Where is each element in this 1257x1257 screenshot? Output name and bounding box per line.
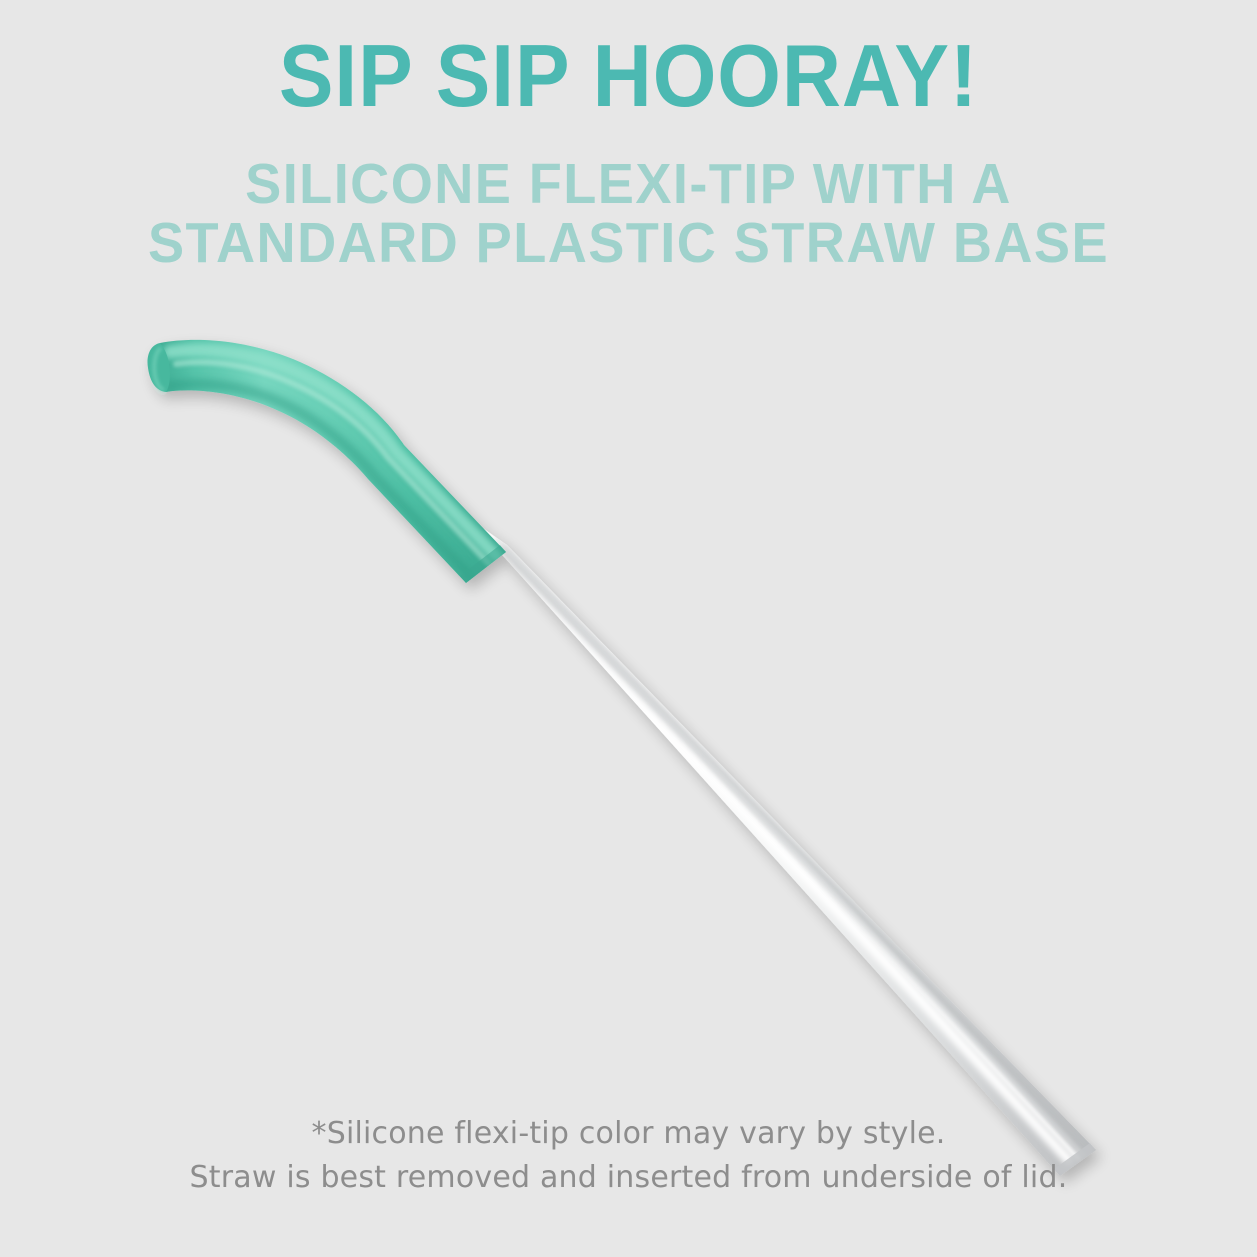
page-subtitle-line-2: STANDARD PLASTIC STRAW BASE [31, 214, 1225, 273]
straw-body [148, 340, 1097, 1176]
footnote-line-2: Straw is best removed and inserted from … [0, 1156, 1257, 1200]
page-subtitle: SILICONE FLEXI-TIP WITH A STANDARD PLAST… [31, 119, 1225, 274]
page-subtitle-line-1: SILICONE FLEXI-TIP WITH A [31, 155, 1225, 214]
plastic-straw-base [470, 519, 1096, 1176]
silicone-flexi-tip [148, 340, 507, 583]
product-infographic: SIP SIP HOORAY! SILICONE FLEXI-TIP WITH … [0, 0, 1257, 1257]
footnotes-block: *Silicone flexi-tip color may vary by st… [0, 1112, 1257, 1199]
page-title: SIP SIP HOORAY! [44, 32, 1213, 119]
footnote-line-1: *Silicone flexi-tip color may vary by st… [0, 1112, 1257, 1156]
headline-block: SIP SIP HOORAY! SILICONE FLEXI-TIP WITH … [0, 32, 1257, 274]
